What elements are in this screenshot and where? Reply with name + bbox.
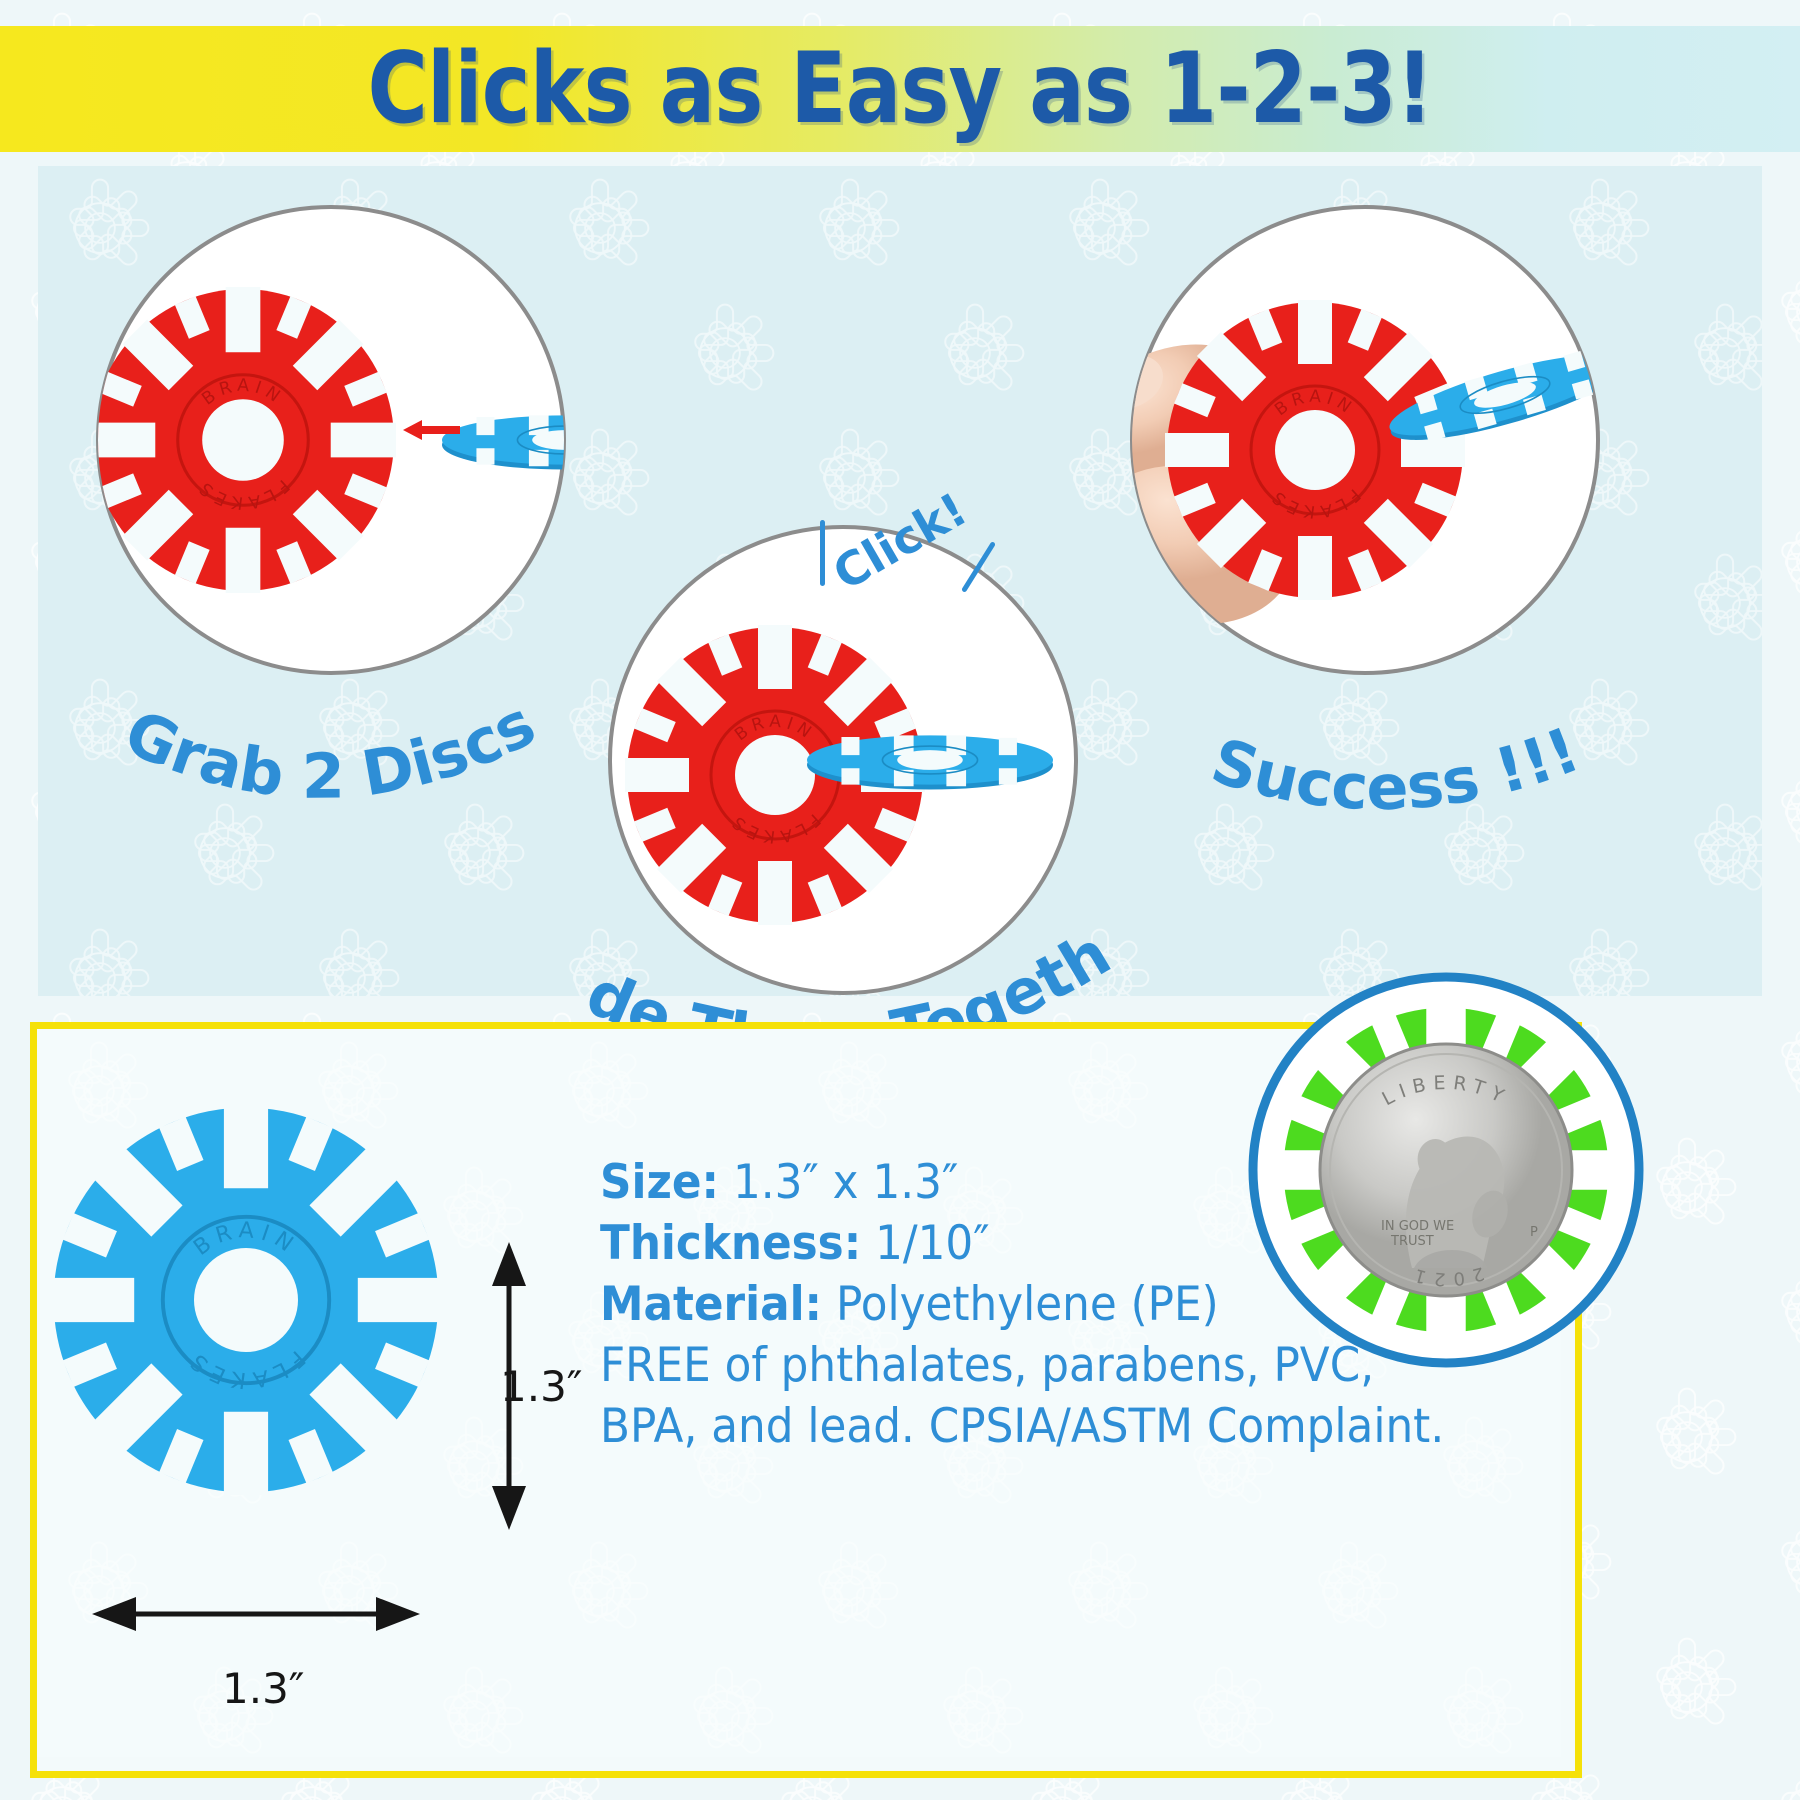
spec-value-size: 1.3″ x 1.3″: [733, 1155, 958, 1210]
coin-mint-mark: P: [1530, 1225, 1538, 1240]
dimension-diagram: [0, 0, 1800, 1800]
spec-line-free-2: BPA, and lead. CPSIA/ASTM Complaint.: [600, 1396, 1511, 1457]
spec-value-thickness: 1/10″: [875, 1216, 989, 1271]
spec-label-size: Size:: [600, 1155, 719, 1210]
coin-motto-line2: TRUST: [1390, 1234, 1434, 1249]
quarter-coin: LIBERTY 2021 IN GOD WE TRUST P: [1320, 1044, 1572, 1296]
infographic-canvas: Clicks as Easy as 1-2-3!: [0, 0, 1800, 1800]
coin-comparison: LIBERTY 2021 IN GOD WE TRUST P: [1244, 968, 1648, 1372]
spec-label-thickness: Thickness:: [600, 1216, 861, 1271]
coin-motto-line1: IN GOD WE: [1381, 1219, 1454, 1234]
height-dimension-label: 1.3″: [500, 1362, 582, 1411]
blue-disc-reference: [51, 1105, 441, 1495]
spec-label-material: Material:: [600, 1277, 822, 1332]
width-dimension-arrow: [92, 1597, 420, 1631]
spec-value-material: Polyethylene (PE): [836, 1277, 1219, 1332]
width-dimension-label: 1.3″: [222, 1664, 304, 1713]
